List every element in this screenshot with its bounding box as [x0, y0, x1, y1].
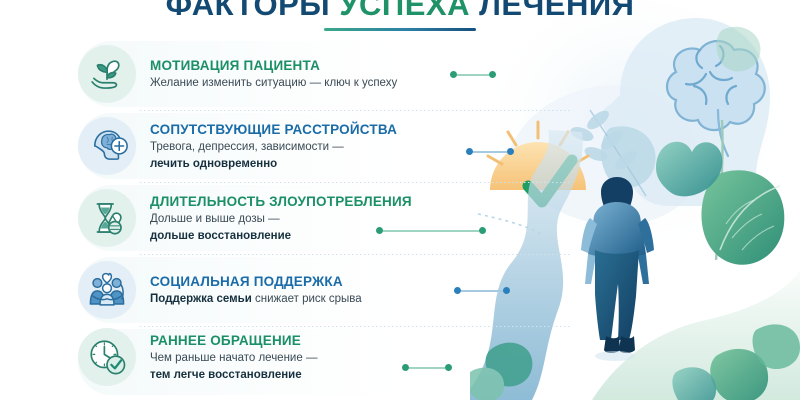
connector-bar — [383, 230, 479, 232]
list-item[interactable]: СОЦИАЛЬНАЯ ПОДДЕРЖКА Поддержка семьи сни… — [78, 254, 508, 326]
connector-dot — [450, 71, 457, 78]
connector-green — [376, 227, 486, 234]
connector-dot — [454, 287, 461, 294]
connector-dot — [402, 364, 409, 371]
connector-blue — [454, 287, 510, 294]
connector-bar — [457, 74, 489, 76]
connector-dot — [489, 71, 496, 78]
connector-bar — [409, 367, 445, 369]
row-divider — [140, 326, 570, 327]
family-heart-icon — [78, 261, 136, 319]
connector-dot — [479, 227, 486, 234]
title-part-3: ЛЕЧЕНИЯ — [479, 0, 634, 22]
list-item[interactable]: СОПУТСТВУЮЩИЕ РАССТРОЙСТВА Тревога, депр… — [78, 110, 508, 182]
large-leaf — [701, 170, 784, 264]
hourglass-pills-icon — [78, 189, 136, 247]
list-item[interactable]: МОТИВАЦИЯ ПАЦИЕНТА Желание изменить ситу… — [78, 38, 508, 110]
connector-green — [402, 364, 452, 371]
item-heading: СОПУТСТВУЮЩИЕ РАССТРОЙСТВА — [150, 121, 397, 138]
clock-check-icon — [78, 328, 136, 386]
item-subtitle-line2: дольше восстановление — [150, 229, 412, 244]
row-texts: СОПУТСТВУЮЩИЕ РАССТРОЙСТВА Тревога, депр… — [150, 121, 397, 172]
item-subtitle-line1: Желание изменить ситуацию — ключ к успех… — [150, 76, 397, 91]
title-part-2: УСПЕХА — [339, 0, 470, 22]
list-item[interactable]: ДЛИТЕЛЬНОСТЬ ЗЛОУПОТРЕБЛЕНИЯ Дольше и вы… — [78, 182, 508, 254]
list-item[interactable]: РАННЕЕ ОБРАЩЕНИЕ Чем раньше начато лечен… — [78, 326, 508, 388]
upper-leaf — [716, 27, 760, 72]
connector-dot — [466, 148, 473, 155]
item-subtitle-line1: Тревога, депрессия, зависимости — — [150, 140, 397, 155]
row-texts: РАННЕЕ ОБРАЩЕНИЕ Чем раньше начато лечен… — [150, 332, 317, 383]
connector-green — [450, 71, 496, 78]
row-texts: СОЦИАЛЬНАЯ ПОДДЕРЖКА Поддержка семьи сни… — [150, 273, 362, 307]
row-divider — [140, 254, 570, 255]
head-brain-plus-icon — [78, 117, 136, 175]
connector-dot — [445, 364, 452, 371]
connector-dot — [503, 287, 510, 294]
connector-dot — [507, 148, 514, 155]
hand-holding-plant-heart-icon — [78, 45, 136, 103]
item-subtitle-line2: лечить одновременно — [150, 157, 397, 172]
row-texts: МОТИВАЦИЯ ПАЦИЕНТА Желание изменить ситу… — [150, 57, 397, 91]
row-divider — [140, 182, 570, 183]
connector-bar — [461, 290, 503, 292]
factors-list: МОТИВАЦИЯ ПАЦИЕНТА Желание изменить ситу… — [78, 38, 508, 388]
connector-dot — [376, 227, 383, 234]
item-subtitle-line1: Чем раньше начато лечение — — [150, 351, 317, 366]
infographic-canvas: ФАКТОРЫ УСПЕХА ЛЕЧЕНИЯ МОТИВАЦИЯ ПАЦИЕНТ… — [0, 0, 800, 400]
item-subtitle-line1: Дольше и выше дозы — — [150, 212, 412, 227]
item-heading: СОЦИАЛЬНАЯ ПОДДЕРЖКА — [150, 273, 362, 290]
title-underline — [324, 28, 476, 31]
connector-bar — [473, 151, 507, 153]
connector-blue — [466, 148, 514, 155]
item-subtitle-line2: тем легче восстановление — [150, 368, 317, 383]
title-part-1: ФАКТОРЫ — [166, 0, 331, 22]
item-heading: РАННЕЕ ОБРАЩЕНИЕ — [150, 332, 317, 349]
row-divider — [140, 110, 570, 111]
page-title: ФАКТОРЫ УСПЕХА ЛЕЧЕНИЯ — [0, 0, 800, 31]
item-heading: МОТИВАЦИЯ ПАЦИЕНТА — [150, 57, 397, 74]
recovery-illustration — [470, 0, 800, 400]
item-heading: ДЛИТЕЛЬНОСТЬ ЗЛОУПОТРЕБЛЕНИЯ — [150, 193, 412, 210]
row-texts: ДЛИТЕЛЬНОСТЬ ЗЛОУПОТРЕБЛЕНИЯ Дольше и вы… — [150, 193, 412, 244]
item-subtitle-line1: Поддержка семьи снижает риск срыва — [150, 292, 362, 307]
